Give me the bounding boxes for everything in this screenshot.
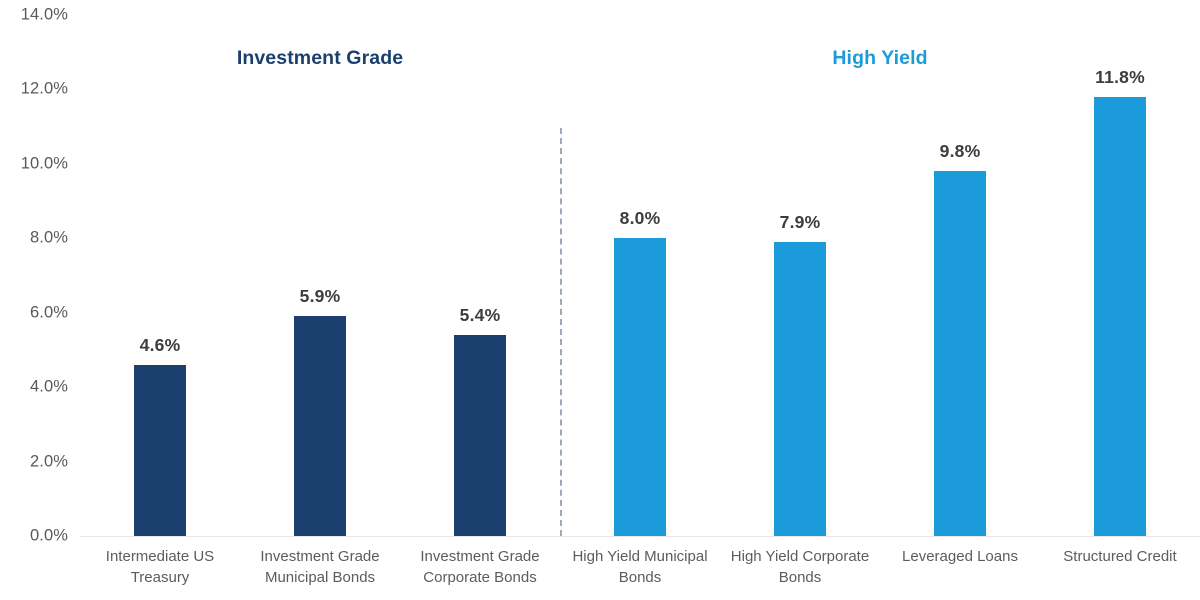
bar-value-label: 5.9% [300,286,341,307]
bar[interactable]: 9.8% [934,171,986,536]
plot-area: 4.6%5.9%5.4%8.0%7.9%9.8%11.8% [80,0,1200,536]
x-axis-category-label: High Yield Municipal Bonds [560,546,720,589]
bar-value-label: 11.8% [1095,67,1145,88]
bar[interactable]: 8.0% [614,238,666,536]
x-axis-category-label: High Yield Corporate Bonds [720,546,880,589]
y-axis-tick-label: 0.0% [0,527,68,546]
group-divider-line [560,128,562,536]
y-axis-tick-label: 12.0% [0,80,68,99]
bar-value-label: 9.8% [940,141,981,162]
y-axis-tick-label: 10.0% [0,154,68,173]
group-header-investment-grade: Investment Grade [237,47,403,70]
x-axis-category-label: Structured Credit [1040,546,1200,567]
bar-chart: 0.0%2.0%4.0%6.0%8.0%10.0%12.0%14.0% 4.6%… [0,0,1200,600]
y-axis-tick-label: 4.0% [0,378,68,397]
bar[interactable]: 11.8% [1094,97,1146,536]
bar[interactable]: 5.9% [294,316,346,536]
bar-value-label: 4.6% [140,335,181,356]
y-axis-tick-label: 8.0% [0,229,68,248]
bar-value-label: 5.4% [460,305,501,326]
axis-baseline [80,536,1200,537]
bar-value-label: 7.9% [780,212,821,233]
y-axis-tick-label: 14.0% [0,6,68,25]
y-axis-tick-label: 6.0% [0,303,68,322]
x-axis-category-label: Leveraged Loans [880,546,1040,567]
y-axis-tick-label: 2.0% [0,452,68,471]
bar[interactable]: 5.4% [454,335,506,536]
x-axis-category-label: Investment Grade Corporate Bonds [400,546,560,589]
bar-value-label: 8.0% [620,208,661,229]
bar[interactable]: 4.6% [134,365,186,536]
bar[interactable]: 7.9% [774,242,826,536]
x-axis-category-label: Intermediate US Treasury [80,546,240,589]
group-header-high-yield: High Yield [832,47,927,70]
x-axis-category-label: Investment Grade Municipal Bonds [240,546,400,589]
